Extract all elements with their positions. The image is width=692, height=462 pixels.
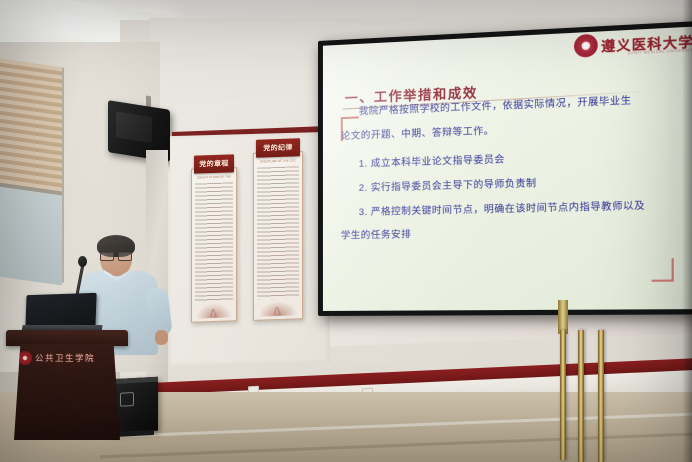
slide-line: 2. 实行指导委员会主导下的导师负责制 xyxy=(359,174,685,195)
podium: 公共卫生学院 xyxy=(6,330,128,440)
wall-board-text-block xyxy=(195,182,233,301)
slide-body: 我院严格按照学校的工作文件，依据实际情况，开展毕业生 论文的开题、中期、答辩等工… xyxy=(359,93,685,255)
wall-board-text-block xyxy=(257,166,299,299)
wall-board-footer-art xyxy=(196,302,232,318)
screen-frame: 遵义医科大学 ZUNYI MEDICAL UNIVERSITY 一、工作举措和成… xyxy=(318,21,692,316)
podium-sign: 公共卫生学院 xyxy=(18,350,110,366)
window-blinds xyxy=(0,58,62,197)
corner-bracket-bottom-right xyxy=(652,258,674,282)
slide-line: 学生的任务安排 xyxy=(341,224,685,242)
university-emblem-icon xyxy=(574,34,598,58)
right-edge-shadow xyxy=(682,0,692,462)
presenter-hand xyxy=(155,330,168,345)
microphone-head-icon xyxy=(78,256,87,267)
wall-board-subtitle: DISCIPLINE OF THE CPC xyxy=(258,158,298,164)
podium-sign-text: 公共卫生学院 xyxy=(35,352,95,364)
wall-board-heading: 党的纪律 xyxy=(256,138,300,158)
slide-surface: 遵义医科大学 ZUNYI MEDICAL UNIVERSITY 一、工作举措和成… xyxy=(323,26,692,311)
screen-pole-bracket xyxy=(558,300,568,334)
slide-line: 3. 严格控制关键时间节点，明确在该时间节点内指导教师以及 xyxy=(359,199,685,219)
laptop-screen xyxy=(25,293,96,329)
party-emblem-icon xyxy=(18,351,32,365)
screen-support-pole xyxy=(578,330,584,462)
window-pane xyxy=(0,186,62,285)
slide-line: 1. 成立本科毕业论文指导委员会 xyxy=(359,148,685,170)
wall-board-footer-art xyxy=(258,300,298,316)
wall-board-subtitle: CONSTITUTION OF THE CPC xyxy=(196,174,232,180)
screen-support-pole xyxy=(598,330,604,462)
slide-line: 论文的开题、中期、答辩等工作。 xyxy=(341,118,685,142)
projection-screen: 遵义医科大学 ZUNYI MEDICAL UNIVERSITY 一、工作举措和成… xyxy=(318,21,692,316)
wall-board-heading: 党的章程 xyxy=(194,154,234,173)
laptop xyxy=(22,294,98,334)
wall-board-party-constitution: 党的章程 CONSTITUTION OF THE CPC xyxy=(191,167,237,323)
window xyxy=(0,58,64,283)
glasses-icon xyxy=(100,252,132,259)
wall-board-party-discipline: 党的纪律 DISCIPLINE OF THE CPC xyxy=(253,151,303,321)
podium-top-surface xyxy=(6,330,128,346)
lecture-room-photo: 党的章程 CONSTITUTION OF THE CPC 党的纪律 DISCIP… xyxy=(0,0,692,462)
screen-support-pole xyxy=(560,330,566,460)
podium-front-panel: 公共卫生学院 xyxy=(14,344,120,440)
